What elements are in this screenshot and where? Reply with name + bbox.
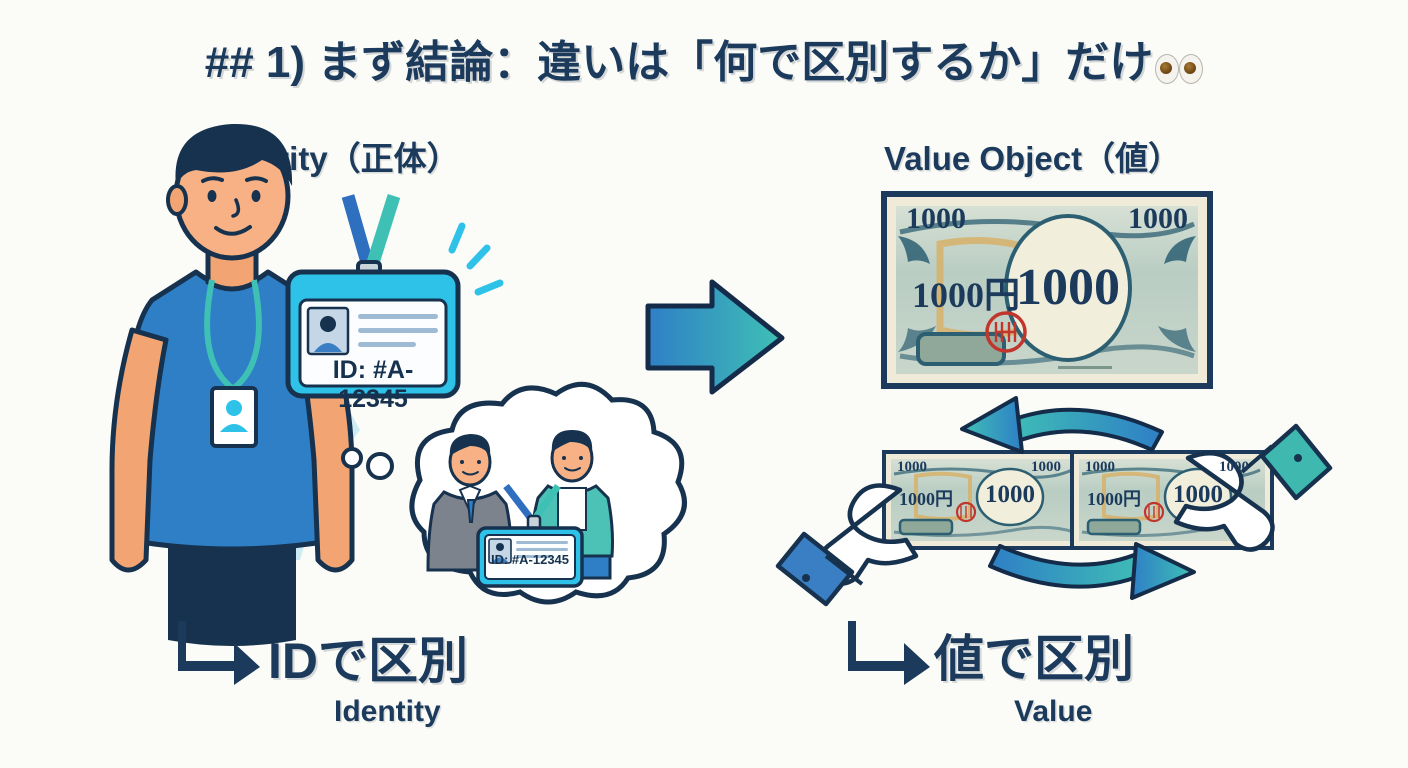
banknote-small-left-corner-tl: 1000 xyxy=(897,459,927,476)
exchange-arrow-right xyxy=(990,544,1194,598)
left-caption-en: Identity xyxy=(334,695,441,729)
banknote-small-right-corner-tl: 1000 xyxy=(1085,459,1115,476)
banknote-small-left-oval-value: 1000 xyxy=(978,481,1042,509)
thought-badge-text: ID: #A-12345 xyxy=(470,552,590,567)
right-caption-en: Value xyxy=(1014,695,1092,729)
right-caption-jp: 値で区別 xyxy=(934,619,1134,691)
banknote-large-corner-tl: 1000 xyxy=(906,202,966,236)
infographic-canvas: ## 1) まず結論：違いは「何で区別するか」だけ Entity（正体） Val… xyxy=(0,0,1408,768)
banknote-large-kanji: 1000円 xyxy=(912,266,1020,318)
banknote-small-right-kanji: 1000円 xyxy=(1087,485,1141,511)
banknote-large-corner-tr: 1000 xyxy=(1128,202,1188,236)
left-caption-jp: IDで区別 xyxy=(268,621,468,693)
banknote-small-right-oval-value: 1000 xyxy=(1166,481,1230,509)
exchange-arrow-left xyxy=(962,398,1162,452)
hook-arrow-right-icon xyxy=(848,617,934,687)
banknote-small-right-corner-tr: 1000 xyxy=(1219,459,1249,476)
banknote-large-oval-value: 1000 xyxy=(1006,258,1130,317)
banknote-small-left-corner-tr: 1000 xyxy=(1031,459,1061,476)
banknote-small-left-kanji: 1000円 xyxy=(899,485,953,511)
hook-arrow-left-icon xyxy=(178,617,264,687)
